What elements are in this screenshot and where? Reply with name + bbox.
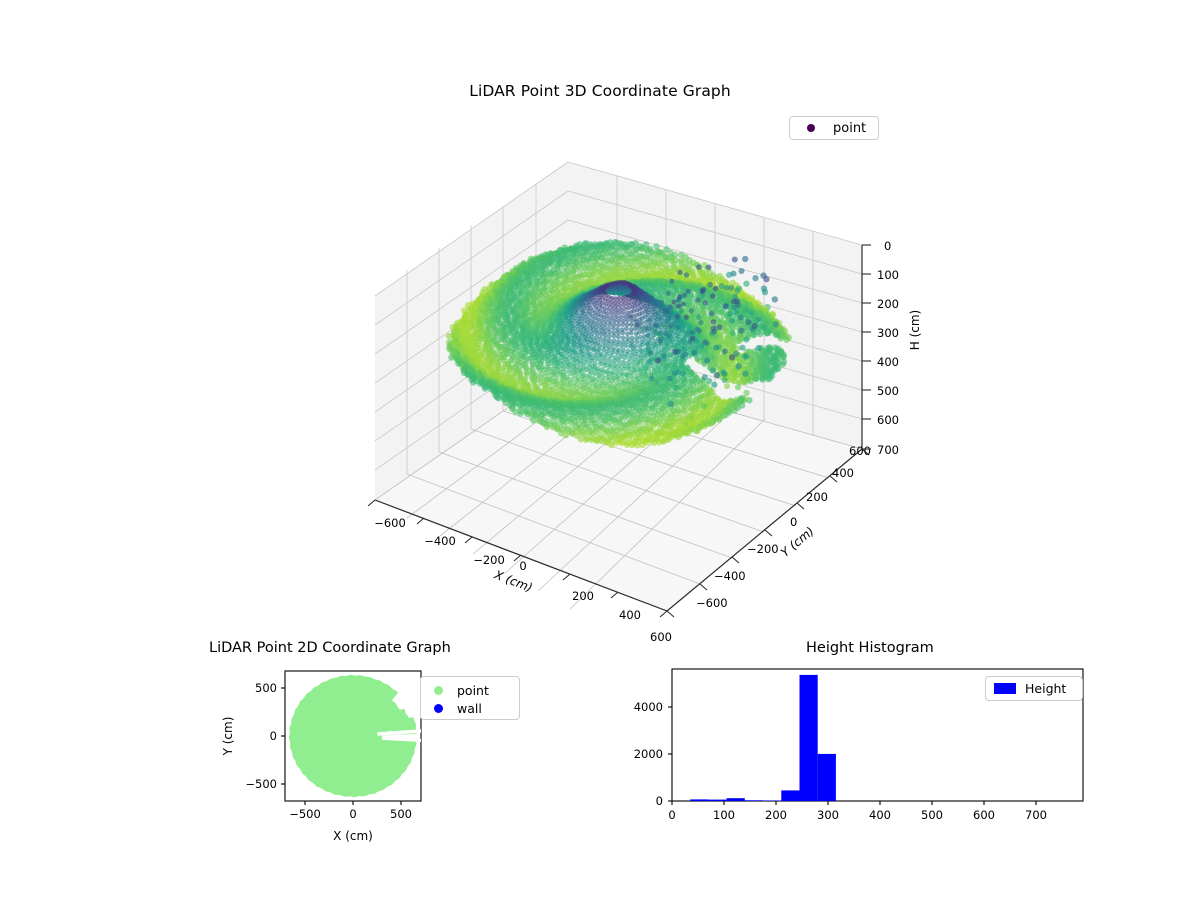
axis-y-label-2d: Y (cm) [221, 717, 235, 757]
axis-y-ticklabels-hist: 0 2000 4000 [634, 700, 663, 808]
legend-label-wall: wall [457, 701, 482, 716]
legend-2d[interactable]: point wall [420, 676, 520, 720]
legend-marker-point [434, 686, 443, 695]
legend-3d[interactable]: point [789, 116, 879, 140]
legend-row-point: point [421, 681, 519, 699]
axis-x-ticklabels-hist: 0 100 200 300 400 500 600 700 [668, 808, 1047, 822]
axis-x-ticks-hist [672, 801, 1036, 805]
legend-marker-wall [434, 704, 443, 713]
histogram-bar [818, 754, 836, 801]
legend-marker-point [807, 124, 815, 132]
axis-z-ticklabels-3d: 0 100 200 300 400 500 600 700 [877, 239, 899, 457]
axis-y-ticklabels-2d: 500 0 −500 [245, 681, 277, 791]
axis-z-ticks-3d [862, 245, 871, 449]
axis-y-label-3d: Y (cm) [778, 524, 817, 560]
page-title-3d: LiDAR Point 3D Coordinate Graph [0, 82, 1200, 100]
legend-patch-height [994, 683, 1016, 694]
panel-3d-plot: −600 −400 −200 0 200 400 600 X (cm) −600… [368, 162, 922, 644]
axis-y-ticks-2d [281, 688, 285, 784]
axis-x-label-3d: X (cm) [491, 567, 534, 595]
axis-z-label-3d: H (cm) [908, 310, 922, 351]
axis-x-ticks-2d [305, 801, 401, 805]
panel-title-2d: LiDAR Point 2D Coordinate Graph [209, 640, 451, 656]
panel-title-histogram: Height Histogram [806, 640, 934, 656]
legend-row-wall: wall [421, 699, 519, 717]
histogram-bar [690, 799, 708, 801]
legend-label-height: Height [1025, 681, 1066, 696]
panel-2d-plot: −500 0 500 X (cm) 500 0 −500 Y (cm) [221, 671, 423, 843]
axis-x-ticklabels-2d: −500 0 500 [289, 807, 412, 821]
histogram-bar [800, 675, 818, 801]
histogram-bar [727, 798, 745, 801]
axis-x-label-2d: X (cm) [333, 829, 373, 843]
axis-y-ticks-hist [668, 707, 672, 801]
legend-label-point: point [457, 683, 489, 698]
histogram-bar [708, 800, 726, 801]
figure-canvas: −600 −400 −200 0 200 400 600 X (cm) −600… [0, 0, 1200, 900]
legend-label-point: point [833, 121, 866, 136]
legend-histogram[interactable]: Height [985, 676, 1083, 701]
histogram-bar [781, 790, 799, 801]
